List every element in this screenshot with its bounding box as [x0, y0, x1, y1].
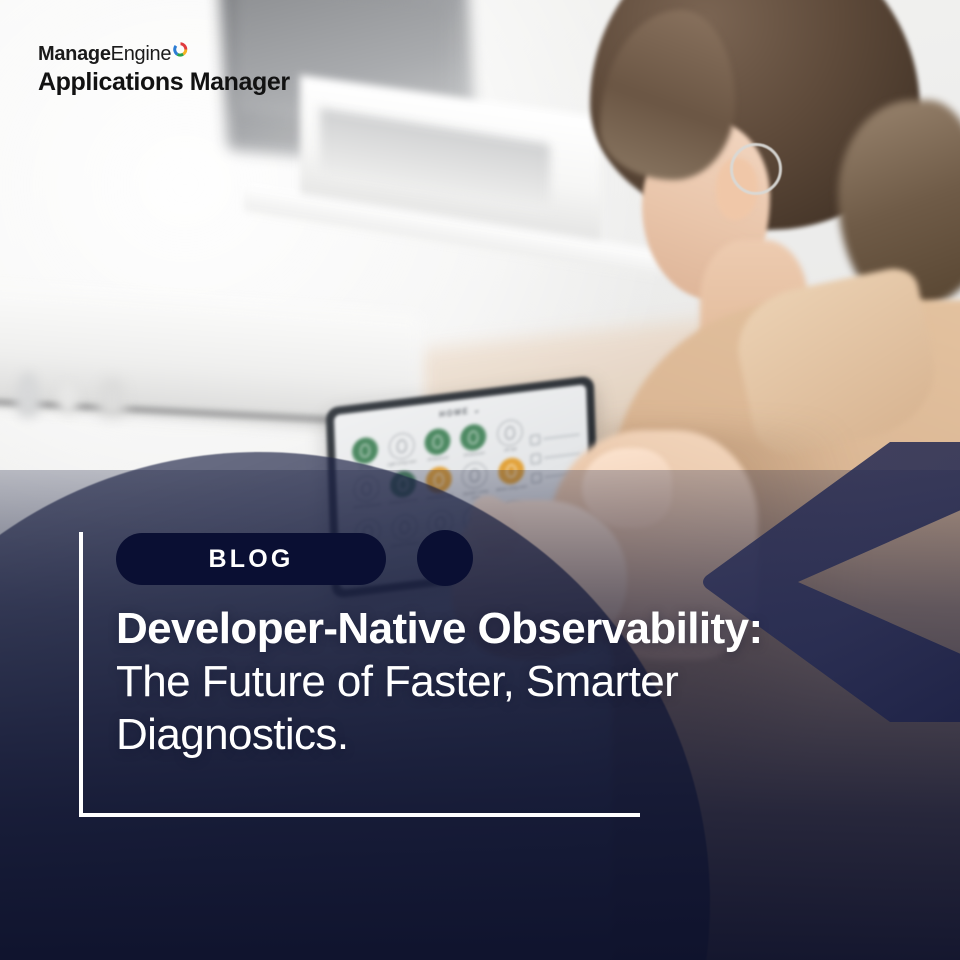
headline-line-2: The Future of Faster, Smarter — [116, 655, 916, 708]
tablet-icon-cell: Off Hall — [493, 418, 526, 455]
logo-product-name: Applications Manager — [38, 69, 290, 95]
tablet-icon-label: Off Bedroom — [458, 450, 490, 458]
tablet-icon-cell: Light Living room — [385, 431, 418, 468]
lightbulb-icon — [424, 427, 451, 456]
lightbulb-icon — [352, 436, 379, 465]
list-item-icon — [531, 453, 541, 464]
chevron-down-icon: ⌄ — [473, 405, 482, 415]
logo-engine-text: Engine — [111, 44, 171, 64]
tablet-icon-cell: Off Bedroom — [457, 422, 490, 459]
list-item-line — [543, 433, 580, 440]
tablet-icon-label: Light Living room — [386, 459, 418, 467]
logo-wordmark: ManageEngine — [38, 44, 290, 64]
headline-line-1: Developer-Native Observability: — [116, 602, 916, 655]
logo-manage-text: Manage — [38, 44, 111, 64]
lightbulb-icon — [388, 432, 415, 461]
list-item-line — [544, 452, 581, 459]
tablet-side-row — [530, 429, 580, 445]
tablet-title-text: HOME — [439, 407, 469, 420]
list-item-icon — [530, 434, 540, 445]
tablet-icon-label: Off Hall — [494, 446, 526, 454]
headline-block: Developer-Native Observability: The Futu… — [116, 602, 916, 761]
manageengine-swirl-icon — [172, 41, 189, 58]
manageengine-logo: ManageEngine Applications Manager — [38, 44, 290, 95]
tablet-icon-label: Off Bedroom — [422, 455, 454, 463]
decorative-dot — [417, 530, 473, 586]
headline-line-3: Diagnostics. — [116, 708, 916, 761]
blog-badge-label: BLOG — [208, 545, 293, 574]
blog-promo-card: HOME ⌄ On Wall Light Living room Off Bed… — [0, 0, 960, 960]
hoop-earring — [730, 143, 782, 195]
lightbulb-icon — [496, 418, 523, 447]
blog-badge: BLOG — [116, 533, 386, 585]
lightbulb-icon — [460, 423, 487, 452]
tablet-icon-cell: Off Bedroom — [421, 427, 454, 464]
